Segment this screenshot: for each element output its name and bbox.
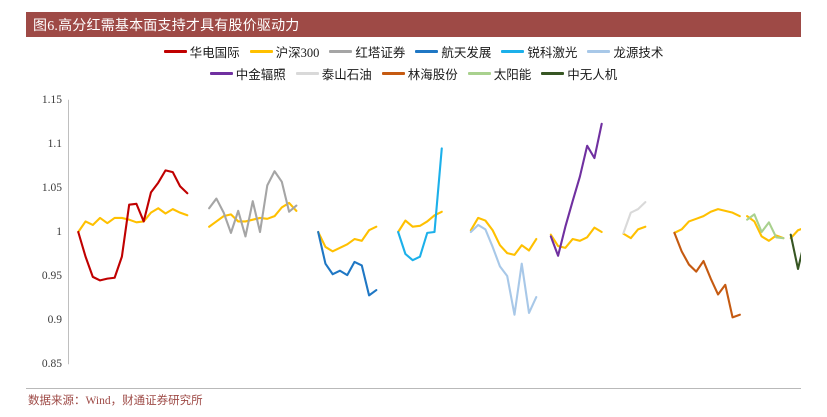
chart-title-band: 图6.高分红需基本面支持才具有股价驱动力: [26, 12, 801, 37]
legend-color-swatch: [415, 50, 438, 53]
legend-color-swatch: [296, 72, 319, 75]
legend-color-swatch: [250, 50, 273, 53]
series-line: [791, 235, 801, 269]
legend-color-swatch: [587, 50, 610, 53]
series-line: [791, 228, 801, 239]
plot-area: 1.151.11.0510.950.90.85: [26, 92, 801, 382]
series-line: [674, 209, 739, 233]
chart-page: 图6.高分红需基本面支持才具有股价驱动力 华电国际沪深300红塔证券航天发展锐科…: [0, 0, 827, 417]
y-tick-label: 0.9: [48, 314, 62, 326]
legend-color-swatch: [468, 72, 491, 75]
legend-row-1: 华电国际沪深300红塔证券航天发展锐科激光龙源技术: [159, 42, 669, 61]
legend-color-swatch: [210, 72, 233, 75]
legend-item[interactable]: 沪深300: [250, 42, 320, 61]
legend-item[interactable]: 中无人机: [541, 64, 617, 83]
legend-item[interactable]: 锐科激光: [501, 42, 577, 61]
legend-color-swatch: [329, 50, 352, 53]
legend-item[interactable]: 红塔证券: [329, 42, 405, 61]
source-note: 数据来源：Wind，财通证券研究所: [28, 392, 203, 408]
legend-item[interactable]: 龙源技术: [587, 42, 663, 61]
legend-label: 龙源技术: [613, 42, 663, 61]
series-line: [471, 225, 536, 315]
y-axis-labels: 1.151.11.0510.950.90.85: [26, 92, 68, 382]
series-line: [551, 124, 602, 256]
legend-color-swatch: [382, 72, 405, 75]
legend-item[interactable]: 华电国际: [164, 42, 240, 61]
y-tick-label: 1.1: [48, 138, 62, 150]
series-line: [78, 170, 187, 280]
footer-divider: [26, 388, 801, 389]
legend-item[interactable]: 航天发展: [415, 42, 491, 61]
legend-label: 锐科激光: [527, 42, 577, 61]
legend-label: 泰山石油: [322, 64, 372, 83]
series-line: [551, 228, 602, 248]
legend-row-2: 中金辐照泰山石油林海股份太阳能中无人机: [205, 64, 623, 83]
legend-color-swatch: [541, 72, 564, 75]
series-line: [471, 218, 536, 255]
series-line: [624, 227, 646, 238]
series-line: [318, 227, 376, 252]
series-line: [747, 214, 783, 238]
series-line: [209, 203, 296, 227]
series-line: [398, 148, 442, 260]
y-tick-label: 1.15: [42, 94, 62, 106]
chart-legend: 华电国际沪深300红塔证券航天发展锐科激光龙源技术 中金辐照泰山石油林海股份太阳…: [26, 42, 801, 83]
series-line: [674, 233, 739, 317]
y-tick-label: 1: [56, 226, 62, 238]
y-tick-label: 0.95: [42, 270, 62, 282]
legend-item[interactable]: 太阳能: [468, 64, 532, 83]
legend-label: 中金辐照: [236, 64, 286, 83]
legend-label: 华电国际: [190, 42, 240, 61]
legend-label: 林海股份: [408, 64, 458, 83]
legend-item[interactable]: 中金辐照: [210, 64, 286, 83]
series-line: [78, 208, 187, 232]
series-line: [209, 171, 296, 236]
legend-item[interactable]: 泰山石油: [296, 64, 372, 83]
legend-color-swatch: [164, 50, 187, 53]
legend-label: 中无人机: [567, 64, 617, 83]
legend-color-swatch: [501, 50, 524, 53]
chart-svg: [68, 92, 801, 382]
legend-label: 航天发展: [441, 42, 491, 61]
legend-label: 红塔证券: [355, 42, 405, 61]
legend-label: 沪深300: [276, 42, 320, 61]
y-tick-label: 0.85: [42, 358, 62, 370]
page-title: 图6.高分红需基本面支持才具有股价驱动力: [26, 15, 300, 35]
legend-label: 太阳能: [494, 64, 532, 83]
legend-item[interactable]: 林海股份: [382, 64, 458, 83]
series-line: [318, 232, 376, 295]
y-tick-label: 1.05: [42, 182, 62, 194]
